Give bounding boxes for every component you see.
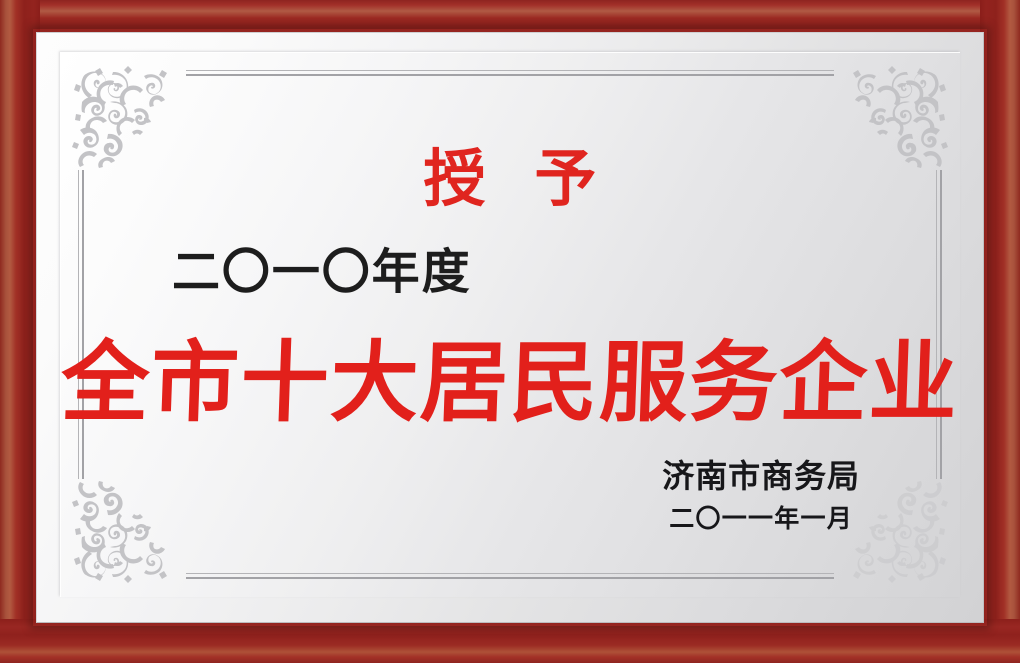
plaque-text-content: 授 予 二〇一〇年度 全市十大居民服务企业 济南市商务局 二〇一一年一月 [60,52,960,597]
award-year-text: 二〇一〇年度 [172,248,472,296]
plaque-frame-left-rail [0,0,40,663]
plaque-frame-right-rail [980,0,1020,663]
plaque-mat: 授 予 二〇一〇年度 全市十大居民服务企业 济南市商务局 二〇一一年一月 [36,32,984,623]
award-title-text: 全市十大居民服务企业 [58,338,961,426]
award-plaque: 授 予 二〇一〇年度 全市十大居民服务企业 济南市商务局 二〇一一年一月 [0,0,1020,663]
mat-inner-panel: 授 予 二〇一〇年度 全市十大居民服务企业 济南市商务局 二〇一一年一月 [60,52,960,597]
issuer-date-text: 二〇一一年一月 [662,502,860,535]
issuer-name-text: 济南市商务局 [662,455,860,497]
issuer-block: 济南市商务局 二〇一一年一月 [662,455,860,535]
plaque-frame-bottom-rail [0,619,1020,663]
award-verb-text: 授 予 [60,148,960,210]
